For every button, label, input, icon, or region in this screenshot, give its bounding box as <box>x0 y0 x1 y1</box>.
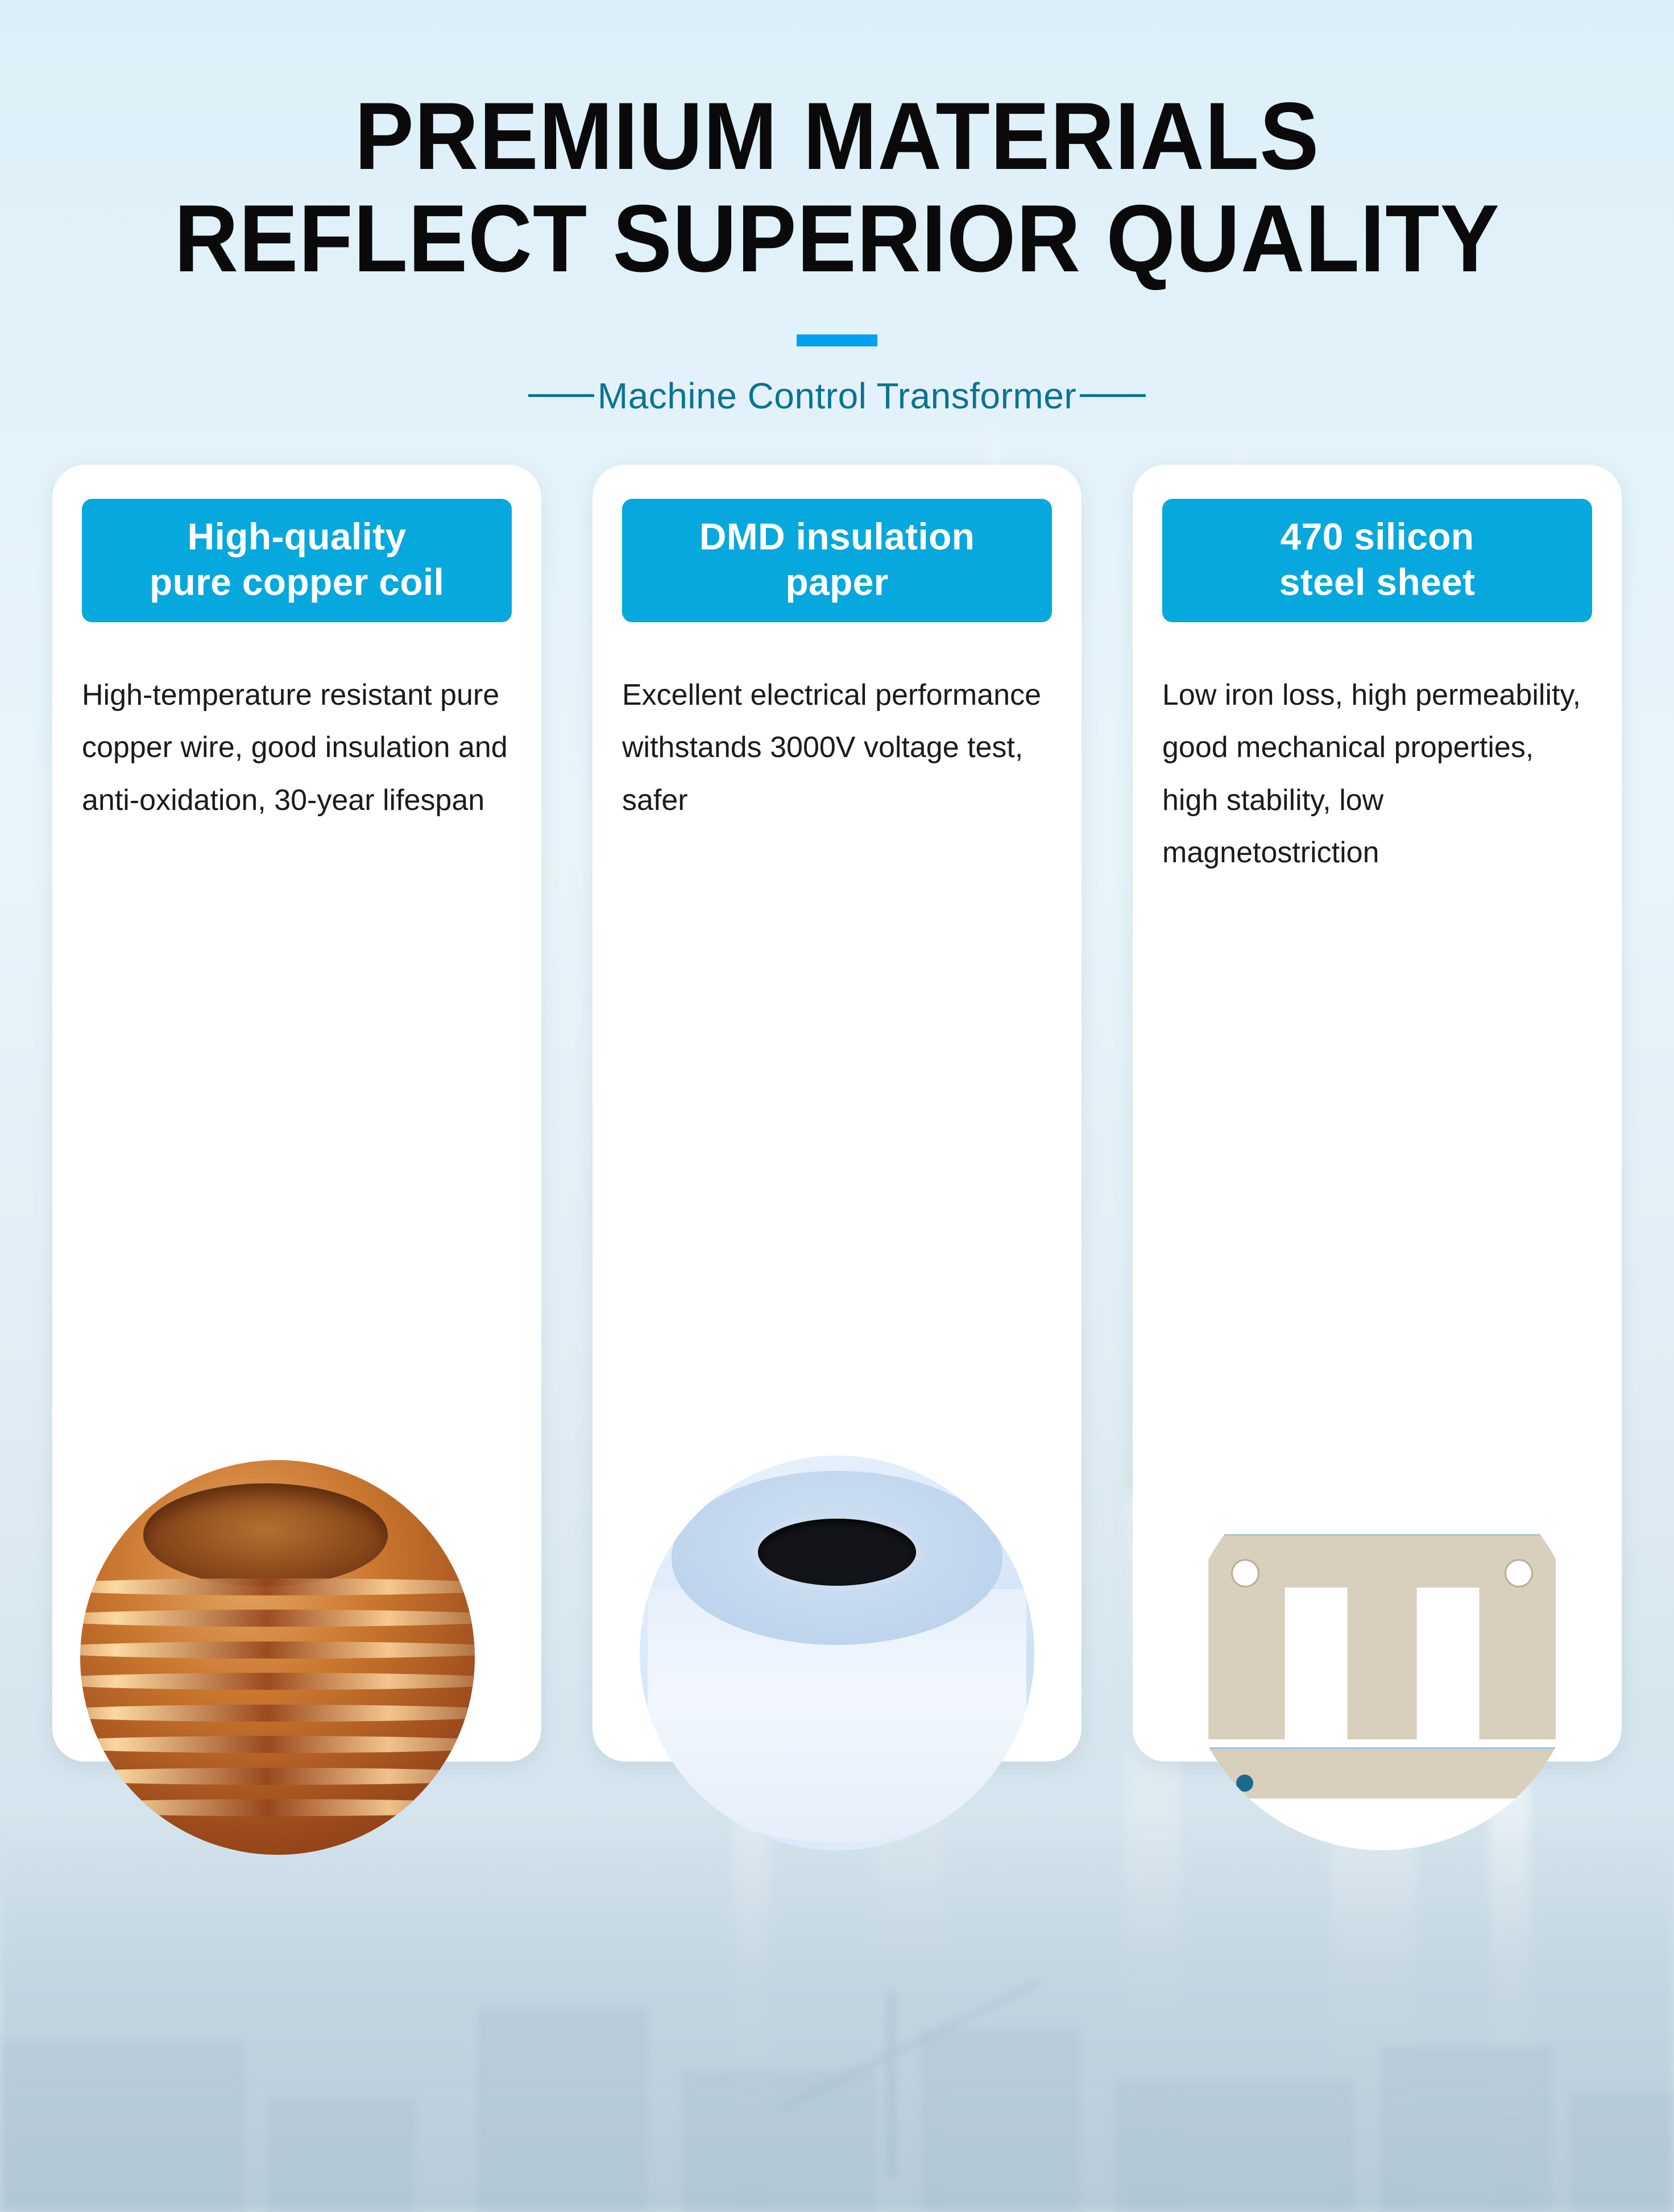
material-card-dmd-insulation-paper[interactable]: DMD insulation paper Excellent electrica… <box>592 465 1082 1762</box>
material-card-list: High-quality pure copper coil High-tempe… <box>52 465 1622 1762</box>
badge-line-1: DMD insulation <box>699 515 975 557</box>
card-description-copper-coil: High-temperature resistant pure copper w… <box>82 669 512 827</box>
subtitle-row: Machine Control Transformer <box>0 375 1674 417</box>
badge-line-2: steel sheet <box>1279 561 1475 603</box>
page-title-line-1: PREMIUM MATERIALS <box>59 85 1615 188</box>
page-title-line-2: REFLECT SUPERIOR QUALITY <box>59 188 1615 290</box>
card-description-silicon-steel-sheet: Low iron loss, high permeability, good m… <box>1162 669 1592 879</box>
background-buildings <box>0 1893 1674 2212</box>
card-badge-copper-coil: High-quality pure copper coil <box>82 499 512 622</box>
card-badge-dmd-insulation-paper: DMD insulation paper <box>622 499 1052 622</box>
copper-coil-photo <box>80 1460 475 1855</box>
badge-line-2: pure copper coil <box>150 561 444 603</box>
material-card-copper-coil[interactable]: High-quality pure copper coil High-tempe… <box>52 465 541 1762</box>
subtitle-rule-right <box>1080 394 1146 397</box>
silicon-steel-sheet-photo <box>1185 1456 1580 1850</box>
badge-line-1: High-quality <box>188 515 407 557</box>
page-header: PREMIUM MATERIALS REFLECT SUPERIOR QUALI… <box>0 0 1674 417</box>
accent-divider-bar <box>797 334 877 346</box>
badge-line-2: paper <box>785 561 888 603</box>
badge-line-1: 470 silicon <box>1281 515 1474 557</box>
card-description-dmd-insulation-paper: Excellent electrical performance withsta… <box>622 669 1052 827</box>
dmd-insulation-paper-roll-photo <box>640 1456 1034 1850</box>
card-badge-silicon-steel-sheet: 470 silicon steel sheet <box>1162 499 1592 622</box>
material-card-silicon-steel-sheet[interactable]: 470 silicon steel sheet Low iron loss, h… <box>1133 465 1622 1762</box>
page-subtitle: Machine Control Transformer <box>594 375 1080 417</box>
subtitle-rule-left <box>528 394 594 397</box>
